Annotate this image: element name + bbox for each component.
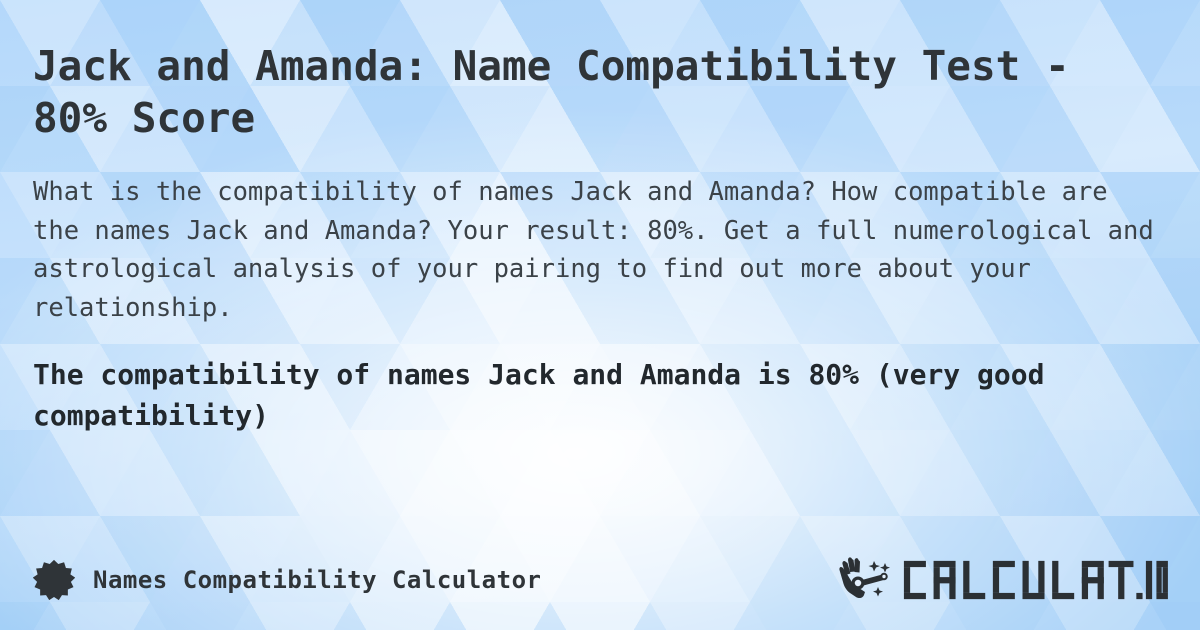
brand-name-label: Names Compatibility Calculator: [93, 566, 541, 594]
footer-bar: Names Compatibility Calculator: [33, 552, 1170, 608]
social-share-card: Jack and Amanda: Name Compatibility Test…: [0, 0, 1200, 630]
starburst-badge-icon: [33, 559, 75, 601]
result-statement: The compatibility of names Jack and Aman…: [33, 354, 1168, 436]
card-content: Jack and Amanda: Name Compatibility Test…: [0, 0, 1200, 630]
calculatio-wordmark: [902, 558, 1170, 602]
brand-block: Names Compatibility Calculator: [33, 559, 541, 601]
description-text: What is the compatibility of names Jack …: [33, 173, 1168, 328]
hand-magic-wand-icon: [838, 557, 896, 603]
site-logo: [838, 557, 1170, 603]
page-title: Jack and Amanda: Name Compatibility Test…: [33, 40, 1153, 145]
